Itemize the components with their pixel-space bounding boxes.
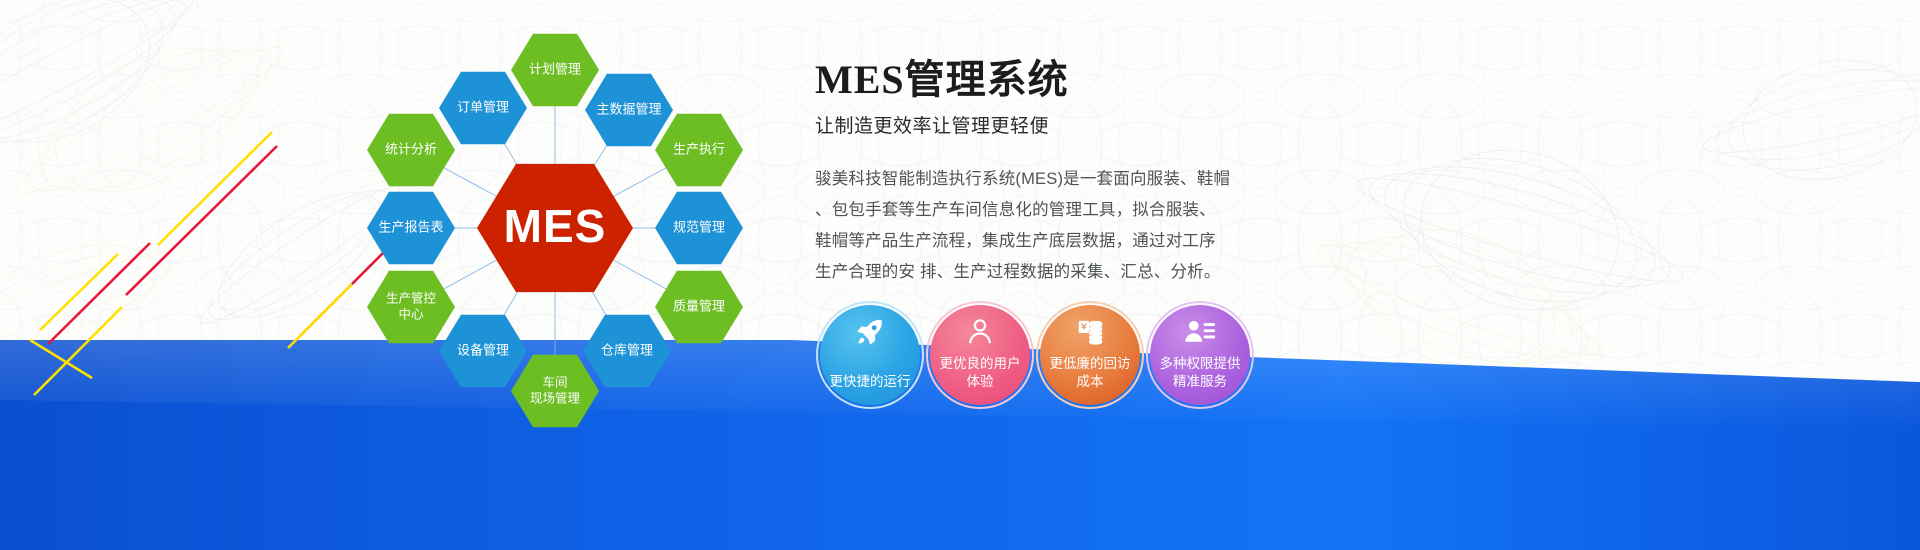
mes-banner: 计划管理订单管理主数据管理统计分析生产执行生产报告表规范管理生产管控中心质量管理… (0, 0, 1920, 550)
hex-center-mes[interactable]: MES (477, 164, 633, 292)
hex-node-label: 规范管理 (673, 219, 725, 234)
page-title: MES管理系统 (815, 58, 1285, 102)
hex-node-control[interactable]: 生产管控中心 (367, 271, 455, 343)
hex-node-order[interactable]: 订单管理 (439, 72, 527, 144)
hex-node-label: 生产管控 (386, 290, 437, 305)
hex-node-label: 订单管理 (457, 99, 509, 114)
hex-node-label: 车间 (542, 374, 567, 389)
hex-center-label: MES (504, 200, 607, 252)
user-icon (930, 316, 1030, 348)
hex-node-warehouse[interactable]: 仓库管理 (583, 315, 671, 387)
hex-node-label: 现场管理 (530, 390, 581, 405)
coins-icon: ¥ (1040, 316, 1140, 348)
hex-node-label: 中心 (398, 306, 424, 321)
description-line: 、包包手套等生产车间信息化的管理工具，拟合服装、 (815, 195, 1285, 226)
rocket-icon (820, 316, 920, 348)
hex-node-label: 质量管理 (673, 298, 725, 313)
description-line: 骏美科技智能制造执行系统(MES)是一套面向服装、鞋帽 (815, 164, 1285, 195)
svg-text:¥: ¥ (1081, 322, 1087, 333)
description-line: 生产合理的安 排、生产过程数据的采集、汇总、分析。 (815, 257, 1285, 288)
hex-node-plan[interactable]: 计划管理 (511, 34, 599, 106)
content-column: MES管理系统 让制造更效率让管理更轻便 骏美科技智能制造执行系统(MES)是一… (815, 58, 1285, 288)
badge-ux[interactable]: 更优良的用户体验 (930, 305, 1030, 405)
hex-node-quality[interactable]: 质量管理 (655, 271, 743, 343)
hex-node-label: 生产执行 (673, 141, 725, 156)
hex-node-label: 仓库管理 (601, 342, 653, 357)
hex-node-label: 主数据管理 (596, 101, 661, 116)
badge-label: 更快捷的运行 (824, 373, 916, 391)
hex-node-label: 生产报告表 (378, 219, 443, 234)
hex-node-spec[interactable]: 规范管理 (655, 192, 743, 264)
description-paragraph: 骏美科技智能制造执行系统(MES)是一套面向服装、鞋帽、包包手套等生产车间信息化… (815, 164, 1285, 288)
feature-badges: 更快捷的运行更优良的用户体验¥更低廉的回访成本多种权限提供精准服务 (820, 305, 1260, 415)
page-subtitle: 让制造更效率让管理更轻便 (815, 111, 1285, 138)
hex-node-exec[interactable]: 生产执行 (655, 114, 743, 186)
description-line: 鞋帽等产品生产流程，集成生产底层数据，通过对工序 (815, 226, 1285, 257)
hex-node-stat[interactable]: 统计分析 (367, 114, 455, 186)
badge-cost[interactable]: ¥更低廉的回访成本 (1040, 305, 1140, 405)
badge-access[interactable]: 多种权限提供精准服务 (1150, 305, 1250, 405)
badge-label: 更优良的用户体验 (934, 355, 1026, 391)
hex-node-workshop[interactable]: 车间现场管理 (511, 355, 599, 427)
badge-label: 更低廉的回访成本 (1044, 355, 1136, 391)
badge-label: 多种权限提供精准服务 (1154, 355, 1246, 391)
hex-node-label: 计划管理 (529, 61, 581, 76)
hex-node-device[interactable]: 设备管理 (439, 315, 527, 387)
badge-speed[interactable]: 更快捷的运行 (820, 305, 920, 405)
user-list-icon (1150, 316, 1250, 348)
mes-hexagon-diagram: 计划管理订单管理主数据管理统计分析生产执行生产报告表规范管理生产管控中心质量管理… (330, 10, 800, 450)
hex-node-label: 设备管理 (457, 342, 509, 357)
hex-node-label: 统计分析 (385, 141, 437, 156)
hex-node-masterdata[interactable]: 主数据管理 (585, 74, 673, 146)
hex-node-report[interactable]: 生产报告表 (367, 192, 455, 264)
